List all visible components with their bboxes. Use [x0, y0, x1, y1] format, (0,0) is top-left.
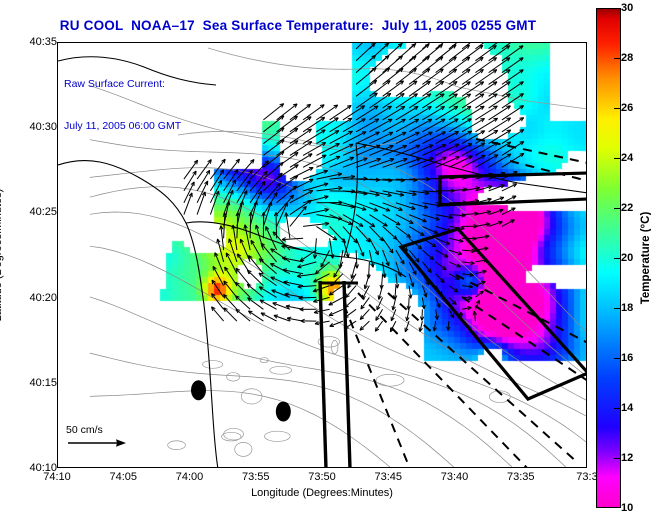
right-arrow-icon: [66, 437, 128, 449]
colorbar-tick-mark: [614, 208, 621, 209]
x-tick-label: 74:10: [43, 471, 71, 483]
x-tick-label: 73:35: [507, 471, 535, 483]
colorbar-tick-label: 28: [621, 52, 633, 64]
colorbar-tick-mark: [614, 108, 621, 109]
colorbar-tick-label: 12: [621, 452, 633, 464]
colorbar-tick-mark: [614, 408, 621, 409]
colorbar-tick-mark: [614, 358, 621, 359]
x-tick-label: 73:3: [576, 471, 597, 483]
colorbar-tick-label: 22: [621, 202, 633, 214]
map-axes[interactable]: Raw Surface Current: July 11, 2005 06:00…: [57, 42, 587, 468]
quiver-scale-key: 50 cm/s: [66, 424, 128, 449]
transect-wedge-south: [401, 229, 586, 399]
colorbar-tick-mark: [614, 308, 621, 309]
bathymetry-contour-north: [208, 48, 586, 109]
colorbar-tick-mark: [614, 158, 621, 159]
coastline-nj: [58, 161, 218, 467]
y-tick-label: 40:20: [29, 292, 57, 304]
current-annotation-line1: Raw Surface Current:: [64, 77, 181, 91]
y-tick-label: 40:30: [29, 121, 57, 133]
transect-line-b: [320, 281, 326, 467]
transect-wedge-north: [440, 173, 586, 205]
colorbar-tick-label: 20: [621, 252, 633, 264]
colorbar-label: Temperature (°C): [640, 212, 651, 305]
x-tick-label: 73:50: [308, 471, 336, 483]
colorbar-tick-label: 24: [621, 152, 633, 164]
x-tick-label: 73:40: [441, 471, 469, 483]
transect-line-a: [344, 281, 350, 467]
x-tick-label: 74:05: [109, 471, 137, 483]
colorbar-tick-label: 16: [621, 352, 633, 364]
x-tick-label: 73:45: [374, 471, 402, 483]
x-tick-label: 73:55: [242, 471, 270, 483]
y-axis-label: Latitude (Degrees:Minutes): [0, 189, 4, 322]
colorbar-tick-mark: [614, 58, 621, 59]
y-tick-label: 40:25: [29, 206, 57, 218]
current-annotation: Raw Surface Current: July 11, 2005 06:00…: [64, 49, 181, 161]
bathymetry-contour-bay: [178, 131, 408, 147]
station-marker-west: [191, 380, 206, 400]
quiver-scale-label: 50 cm/s: [66, 424, 128, 436]
colorbar-tick-mark: [614, 258, 621, 259]
colorbar-tick-label: 30: [621, 2, 633, 14]
surface-current-quiver: [184, 43, 524, 332]
x-tick-label: 74:00: [176, 471, 204, 483]
colorbar-tick-label: 10: [621, 502, 633, 514]
colorbar-tick-mark: [614, 458, 621, 459]
y-tick-label: 40:35: [29, 36, 57, 48]
y-tick-label: 40:15: [29, 377, 57, 389]
x-axis-ticks: 74:1074:0574:0073:5573:5073:4573:4073:35…: [0, 471, 651, 487]
colorbar-tick-label: 14: [621, 402, 633, 414]
current-annotation-line2: July 11, 2005 06:00 GMT: [64, 119, 181, 133]
colorbar-tick-label: 26: [621, 102, 633, 114]
x-axis-label: Longitude (Degrees:Minutes): [57, 487, 587, 499]
colorbar-tick-label: 18: [621, 302, 633, 314]
station-marker-east: [276, 402, 291, 422]
sst-figure: RU COOL NOAA–17 Sea Surface Temperature:…: [0, 0, 651, 518]
figure-title: RU COOL NOAA–17 Sea Surface Temperature:…: [0, 18, 596, 33]
